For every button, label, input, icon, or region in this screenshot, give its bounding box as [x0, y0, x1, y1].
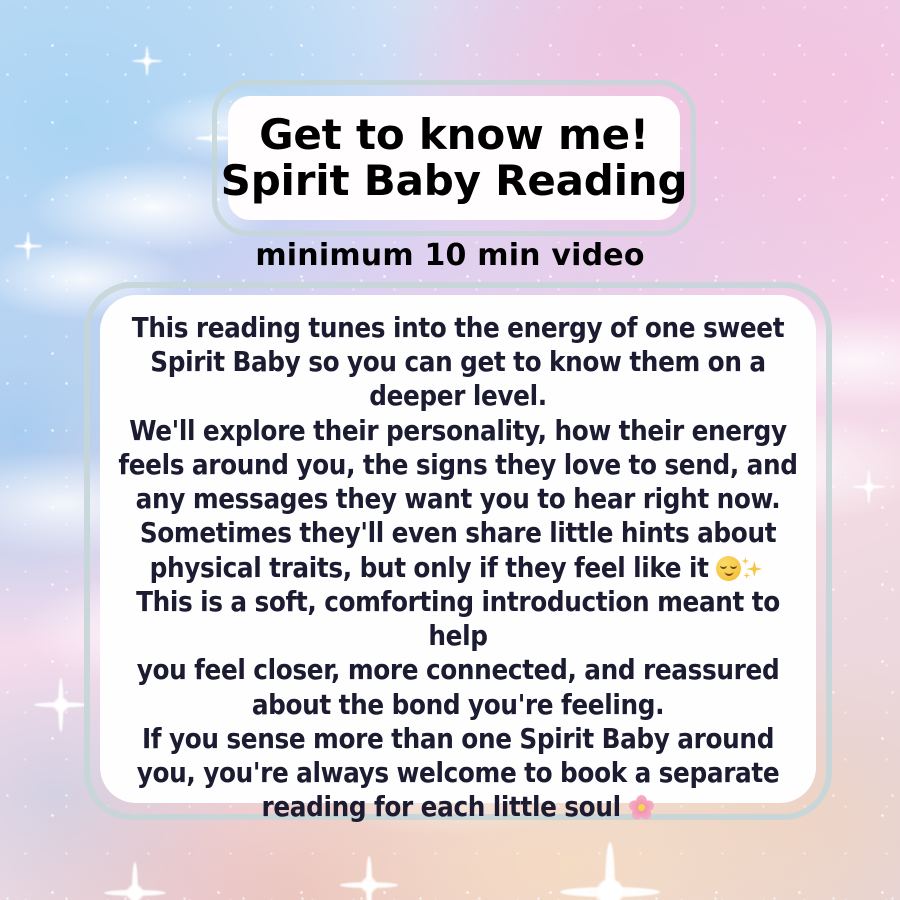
title-card-surface: Get to know me! Spirit Baby Reading	[228, 96, 680, 220]
body-card: This reading tunes into the energy of on…	[84, 282, 832, 820]
body-card-surface: This reading tunes into the energy of on…	[100, 295, 816, 803]
body-text-segment-a: This reading tunes into the energy of on…	[118, 312, 797, 584]
body-text-segment-b: This is a soft, comforting introduction …	[136, 586, 788, 823]
subtitle: minimum 10 min video	[0, 238, 900, 273]
promotional-graphic: Get to know me! Spirit Baby Reading mini…	[0, 0, 900, 900]
cherry-blossom-emoji	[628, 795, 654, 821]
page-title-line-1: Get to know me!	[259, 113, 649, 158]
body-description-text: This reading tunes into the energy of on…	[106, 311, 810, 825]
page-title-line-2: Spirit Baby Reading	[221, 159, 688, 204]
relieved-face-emoji	[716, 556, 741, 581]
sparkles-emoji	[741, 556, 766, 581]
title-card: Get to know me! Spirit Baby Reading	[212, 80, 696, 236]
